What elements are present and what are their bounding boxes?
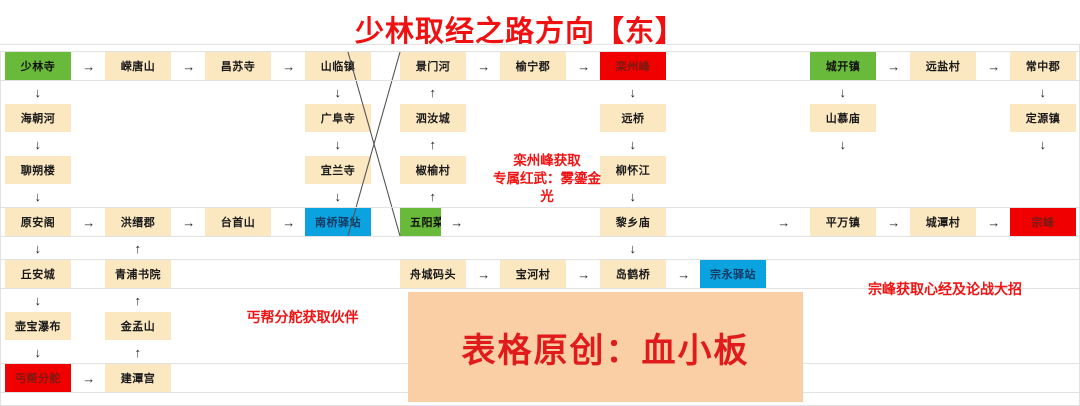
gridline bbox=[0, 236, 1080, 237]
spreadsheet-canvas: 少林寺↓海朝河↓聊朔楼↓原安阁↓丘安城↓壶宝瀑布↓丐帮分舵→嵘唐山→昌苏寺→山临… bbox=[0, 0, 1080, 406]
gridline bbox=[0, 207, 1080, 208]
gridline bbox=[0, 259, 1080, 260]
credit-banner: 表格原创：血小板 bbox=[408, 292, 803, 402]
gridline bbox=[0, 52, 1, 406]
page-title: 少林取经之路方向【东】 bbox=[355, 8, 685, 50]
note-luanzhou: 栾州峰获取 专属红武：雾鎏金 光 bbox=[487, 152, 607, 207]
credit-banner-text: 表格原创：血小板 bbox=[462, 323, 750, 372]
gridline bbox=[0, 51, 1080, 52]
gridline bbox=[0, 80, 1080, 81]
note-gaibang: 丐帮分舵获取伙伴 bbox=[215, 308, 390, 327]
note-zongfeng: 宗峰获取心经及论战大招 bbox=[830, 280, 1060, 299]
